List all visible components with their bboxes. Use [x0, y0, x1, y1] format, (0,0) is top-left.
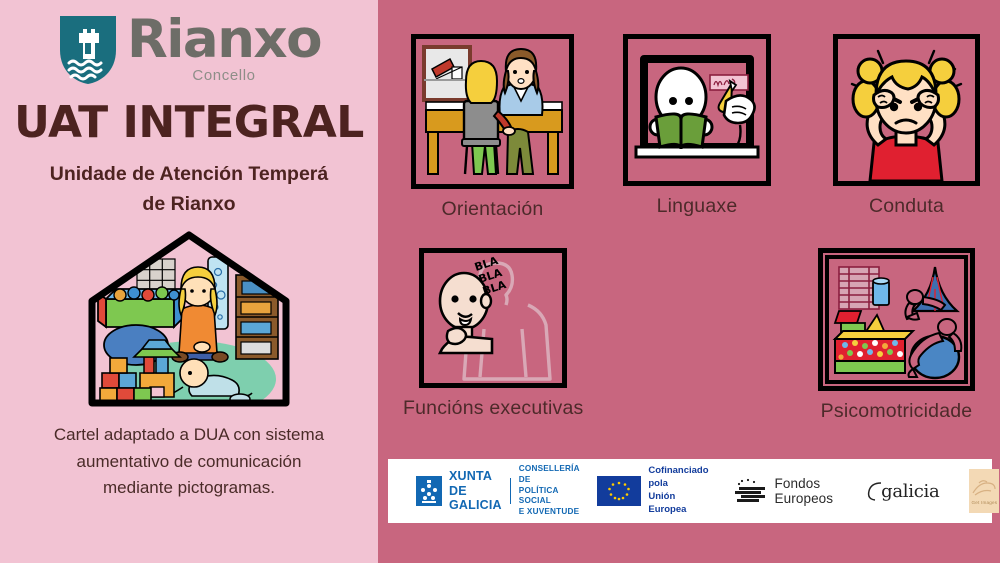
galicia-brand-mark: galicia — [867, 478, 939, 504]
xunta-wordmark: XUNTA DE GALICIA — [449, 469, 502, 513]
xunta-wordmark-line-1: XUNTA — [449, 469, 502, 484]
galicia-wordmark: galicia — [881, 481, 939, 502]
footnote-line-2: aumentativo de comunicación — [9, 449, 369, 475]
service-label-orientacion: Orientación — [442, 198, 544, 221]
page-subtitle: Unidade de Atención Temperá de Rianxo — [14, 159, 364, 219]
rianxo-concello-label: Concello — [127, 67, 321, 84]
eu-label-line-1: Cofinanciado pola — [648, 465, 708, 491]
left-panel: Rianxo Concello UAT INTEGRAL Unidade de … — [0, 0, 378, 563]
house-playroom-pictogram — [84, 227, 294, 412]
poster-footnote: Cartel adaptado a DUA con sistema aument… — [9, 422, 369, 501]
xunta-divider — [510, 478, 511, 504]
page-subtitle-line-2: de Rianxo — [14, 189, 364, 219]
page-subtitle-line-1: Unidade de Atención Temperá — [14, 159, 364, 189]
right-panel: Orientación — [378, 0, 1000, 563]
service-label-linguaxe: Linguaxe — [657, 195, 738, 218]
service-card-orientacion[interactable]: Orientación — [411, 34, 574, 221]
orientacion-pictogram — [411, 34, 574, 189]
funding-logo-bar: XUNTA DE GALICIA CONSELLERÍA DE POLÍTICA… — [388, 459, 992, 523]
poster-root: Rianxo Concello UAT INTEGRAL Unidade de … — [0, 0, 1000, 563]
service-card-funcions-executivas[interactable]: BLA BLA BLA Funcións executivas — [403, 248, 583, 420]
service-label-funcions-executivas: Funcións executivas — [403, 397, 583, 420]
european-union-flag-icon — [597, 476, 641, 506]
service-card-conduta[interactable]: Conduta — [833, 34, 980, 218]
conselleria-line-2: POLÍTICA SOCIAL — [519, 486, 580, 507]
conselleria-line-3: E XUVENTUDE — [519, 507, 580, 518]
conduta-pictogram — [833, 34, 980, 186]
european-union-logo: Cofinanciado pola Unión Europea — [579, 465, 708, 516]
eu-cofinancing-label: Cofinanciado pola Unión Europea — [648, 465, 708, 516]
rianxo-brand: Rianxo Concello — [57, 9, 321, 91]
service-card-linguaxe[interactable]: Linguaxe — [623, 34, 771, 218]
rianxo-wordmark-group: Rianxo Concello — [127, 16, 321, 84]
partner-seal-icon: Get Images — [969, 469, 999, 513]
psicomotricidade-pictogram — [818, 248, 975, 391]
xunta-wordmark-line-2: DE GALICIA — [449, 484, 502, 514]
fondos-europeos-logo: Fondos Europeos — [709, 476, 834, 506]
eu-label-line-2: Unión Europea — [648, 491, 708, 517]
conselleria-line-1: CONSELLERÍA DE — [519, 464, 580, 485]
partner-seal-label: Get Images — [972, 500, 998, 505]
service-card-psicomotricidade[interactable]: Psicomotricidade — [818, 248, 975, 423]
footnote-line-1: Cartel adaptado a DUA con sistema — [9, 422, 369, 448]
xunta-de-galicia-coat-of-arms — [416, 476, 442, 506]
conselleria-label: CONSELLERÍA DE POLÍTICA SOCIAL E XUVENTU… — [519, 464, 580, 517]
services-grid: Orientación — [378, 0, 1000, 440]
service-label-conduta: Conduta — [869, 195, 944, 218]
page-title: UAT INTEGRAL — [14, 101, 364, 145]
rianxo-shield-icon — [57, 13, 119, 87]
funcions-executivas-pictogram: BLA BLA BLA — [419, 248, 567, 388]
rianxo-wordmark: Rianxo — [127, 16, 321, 65]
fondos-europeos-mark — [733, 478, 769, 504]
xunta-de-galicia-logo: XUNTA DE GALICIA CONSELLERÍA DE POLÍTICA… — [388, 464, 579, 517]
footnote-line-3: mediante pictogramas. — [9, 475, 369, 501]
fondos-europeos-label: Fondos Europeos — [775, 476, 834, 506]
linguaxe-pictogram — [623, 34, 771, 186]
service-label-psicomotricidade: Psicomotricidade — [821, 400, 973, 423]
